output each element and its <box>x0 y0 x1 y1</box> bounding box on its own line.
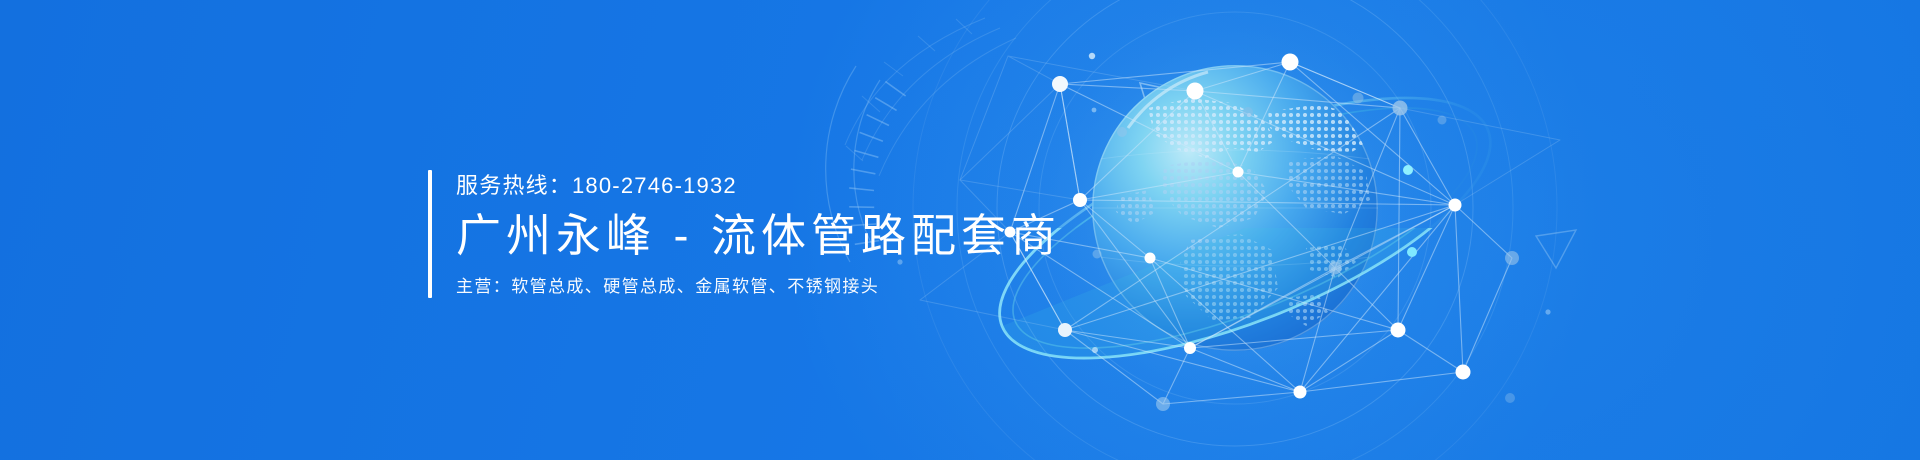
banner-text-block: 服务热线：180-2746-1932 广州永峰 - 流体管路配套商 主营：软管总… <box>428 170 1061 298</box>
accent-bar <box>428 170 432 298</box>
banner-headline: 广州永峰 - 流体管路配套商 <box>456 207 1061 265</box>
banner-subheadline: 主营：软管总成、硬管总成、金属软管、不锈钢接头 <box>456 276 1061 298</box>
banner-text-lines: 服务热线：180-2746-1932 广州永峰 - 流体管路配套商 主营：软管总… <box>456 170 1061 298</box>
promo-banner: 服务热线：180-2746-1932 广州永峰 - 流体管路配套商 主营：软管总… <box>0 0 1920 460</box>
service-hotline: 服务热线：180-2746-1932 <box>456 172 1061 200</box>
